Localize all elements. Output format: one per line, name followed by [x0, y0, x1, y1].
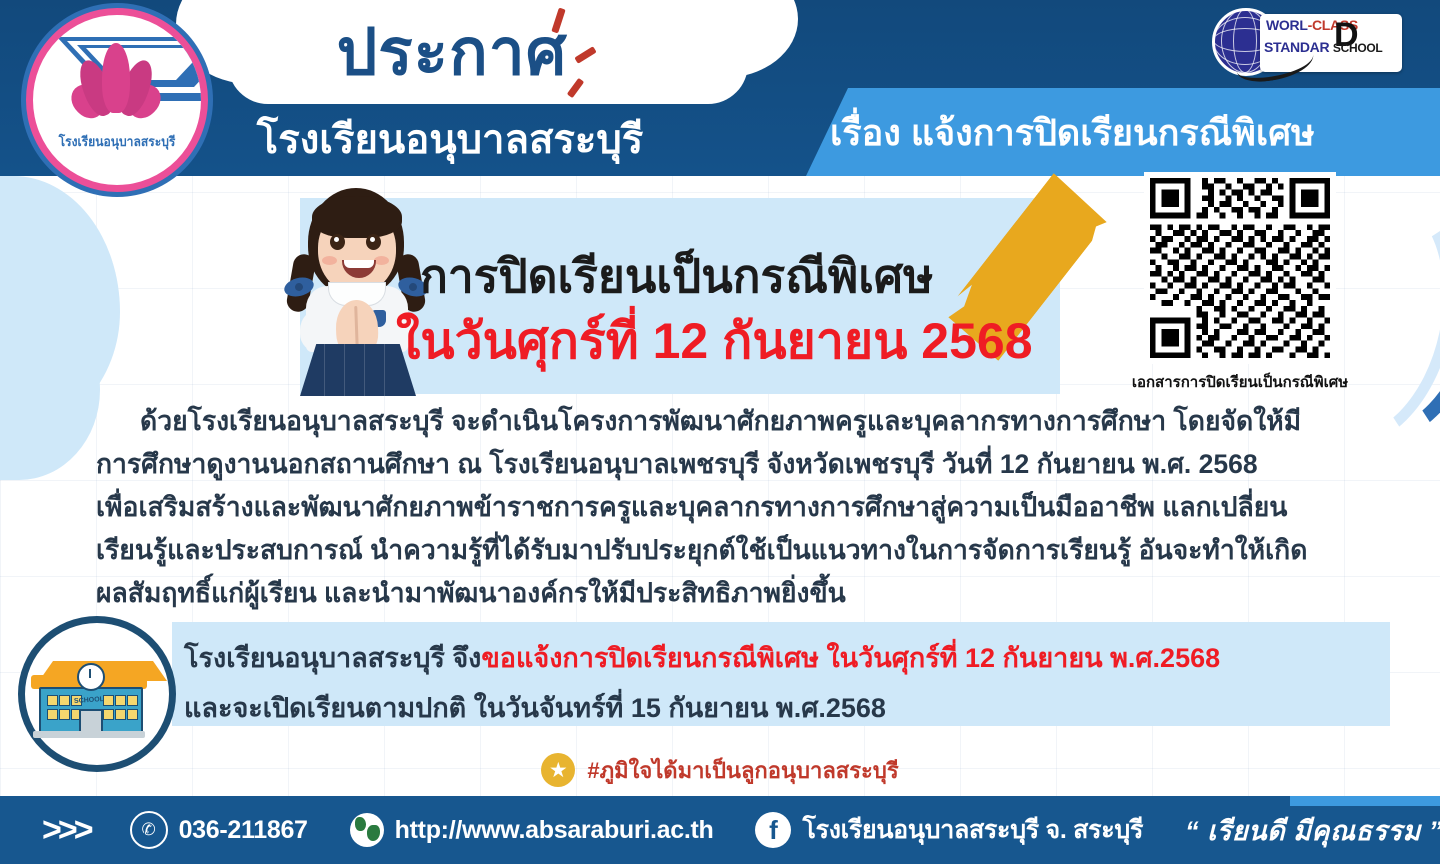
school-logo-arc-text: โรงเรียนอนุบาลสระบุรี: [48, 111, 186, 173]
highlight-prefix: โรงเรียนอนุบาลสระบุรี จึง: [184, 643, 481, 673]
highlight-emphasis: ขอแจ้งการปิดเรียนกรณีพิเศษ ในวันศุกร์ที่…: [481, 643, 1220, 673]
star-icon: ★: [541, 753, 575, 787]
page-title: ประกาศ: [232, 6, 672, 98]
globe-icon: [350, 813, 384, 847]
school-motto: “ เรียนดี มีคุณธรรม ”: [1185, 809, 1440, 852]
body-line: ผลสัมฤทธิ์แก่ผู้เรียน และนำมาพัฒนาองค์กร…: [96, 572, 1386, 615]
highlight-line-1: โรงเรียนอนุบาลสระบุรี จึงขอแจ้งการปิดเรี…: [184, 636, 1384, 679]
world-class-standard-school-logo: WORL-CLASS D STANDAR SCHOOL: [1208, 6, 1404, 80]
footer-facebook[interactable]: f โรงเรียนอนุบาลสระบุรี จ. สระบุรี: [755, 810, 1143, 850]
qr-code[interactable]: [1144, 172, 1336, 364]
qr-caption: เอกสารการปิดเรียนเป็นกรณีพิเศษ: [1108, 370, 1372, 394]
hero-title: การปิดเรียนเป็นกรณีพิเศษ: [420, 240, 1040, 296]
footer-phone[interactable]: ✆ 036-211867: [130, 811, 308, 849]
facebook-page-name: โรงเรียนอนุบาลสระบุรี จ. สระบุรี: [802, 810, 1143, 850]
phone-number: 036-211867: [179, 816, 308, 845]
body-paragraph: ด้วยโรงเรียนอนุบาลสระบุรี จะดำเนินโครงกา…: [96, 400, 1386, 615]
body-line: เรียนรู้และประสบการณ์ นำความรู้ที่ได้รับ…: [96, 529, 1386, 572]
school-logo: โรงเรียนอนุบาลสระบุรี: [26, 8, 208, 192]
website-url: http://www.absaraburi.ac.th: [395, 816, 714, 845]
body-line: ด้วยโรงเรียนอนุบาลสระบุรี จะดำเนินโครงกา…: [96, 400, 1386, 443]
body-line: การศึกษาดูงานนอกสถานศึกษา ณ โรงเรียนอนุบ…: [96, 443, 1386, 486]
school-building-icon: SCHOOL: [18, 616, 176, 772]
subject-line: เรื่อง แจ้งการปิดเรียนกรณีพิเศษ: [830, 98, 1430, 168]
hashtag-row: ★ #ภูมิใจได้มาเป็นลูกอนุบาลสระบุรี: [0, 750, 1440, 790]
school-name: โรงเรียนอนุบาลสระบุรี: [210, 112, 690, 168]
announcement-poster: ประกาศ โรงเรียนอนุบาลสระบุรี โรงเรียนอนุ…: [0, 0, 1440, 864]
hero-date: ในวันศุกร์ที่ 12 กันยายน 2568: [396, 302, 1056, 362]
chevrons-icon: >>>: [42, 811, 90, 850]
footer-bar: >>> ✆ 036-211867 http://www.absaraburi.a…: [0, 796, 1440, 864]
phone-icon: ✆: [130, 811, 168, 849]
facebook-icon: f: [755, 812, 791, 848]
highlight-line-2: และจะเปิดเรียนตามปกติ ในวันจันทร์ที่ 15 …: [184, 686, 1384, 729]
body-line: เพื่อเสริมสร้างและพัฒนาศักยภาพข้าราชการค…: [96, 486, 1386, 529]
clock-icon: [77, 663, 105, 691]
hashtag-text: #ภูมิใจได้มาเป็นลูกอนุบาลสระบุรี: [587, 753, 898, 788]
footer-website[interactable]: http://www.absaraburi.ac.th: [350, 813, 714, 847]
footer-accent-tab: [1290, 796, 1440, 806]
